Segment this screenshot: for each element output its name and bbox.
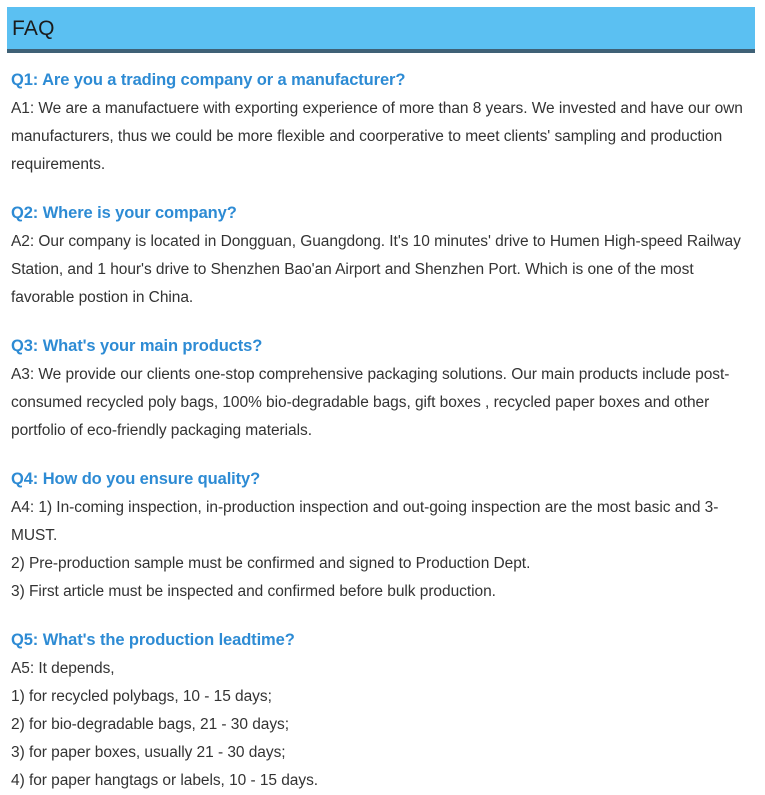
faq-answer-line: A2: Our company is located in Dongguan, … <box>11 228 751 312</box>
faq-question-5: Q5: What's the production leadtime? <box>11 628 751 652</box>
faq-answer-line: A1: We are a manufactuere with exporting… <box>11 95 751 179</box>
faq-answer-5: A5: It depends, 1) for recycled polybags… <box>11 655 751 795</box>
faq-answer-line: 2) for bio-degradable bags, 21 - 30 days… <box>11 711 751 739</box>
faq-answer-1: A1: We are a manufactuere with exporting… <box>11 95 751 179</box>
faq-item-2: Q2: Where is your company? A2: Our compa… <box>11 201 751 312</box>
faq-item-5: Q5: What's the production leadtime? A5: … <box>11 628 751 795</box>
faq-answer-line: 3) First article must be inspected and c… <box>11 578 751 606</box>
faq-question-3: Q3: What's your main products? <box>11 334 751 358</box>
faq-answer-line: A3: We provide our clients one-stop comp… <box>11 361 751 445</box>
faq-answer-2: A2: Our company is located in Dongguan, … <box>11 228 751 312</box>
faq-answer-line: 4) for paper hangtags or labels, 10 - 15… <box>11 767 751 795</box>
faq-item-3: Q3: What's your main products? A3: We pr… <box>11 334 751 445</box>
faq-question-4: Q4: How do you ensure quality? <box>11 467 751 491</box>
faq-banner: FAQ <box>7 7 755 53</box>
faq-answer-line: 3) for paper boxes, usually 21 - 30 days… <box>11 739 751 767</box>
faq-list: Q1: Are you a trading company or a manuf… <box>11 68 751 795</box>
faq-item-4: Q4: How do you ensure quality? A4: 1) In… <box>11 467 751 606</box>
faq-question-2: Q2: Where is your company? <box>11 201 751 225</box>
faq-question-1: Q1: Are you a trading company or a manuf… <box>11 68 751 92</box>
faq-answer-4: A4: 1) In-coming inspection, in-producti… <box>11 494 751 606</box>
page-title: FAQ <box>12 16 55 42</box>
faq-answer-line: 1) for recycled polybags, 10 - 15 days; <box>11 683 751 711</box>
faq-page: FAQ Q1: Are you a trading company or a m… <box>0 0 765 748</box>
faq-answer-line: 2) Pre-production sample must be confirm… <box>11 550 751 578</box>
faq-item-1: Q1: Are you a trading company or a manuf… <box>11 68 751 179</box>
faq-answer-line: A5: It depends, <box>11 655 751 683</box>
faq-answer-3: A3: We provide our clients one-stop comp… <box>11 361 751 445</box>
faq-answer-line: A4: 1) In-coming inspection, in-producti… <box>11 494 751 550</box>
